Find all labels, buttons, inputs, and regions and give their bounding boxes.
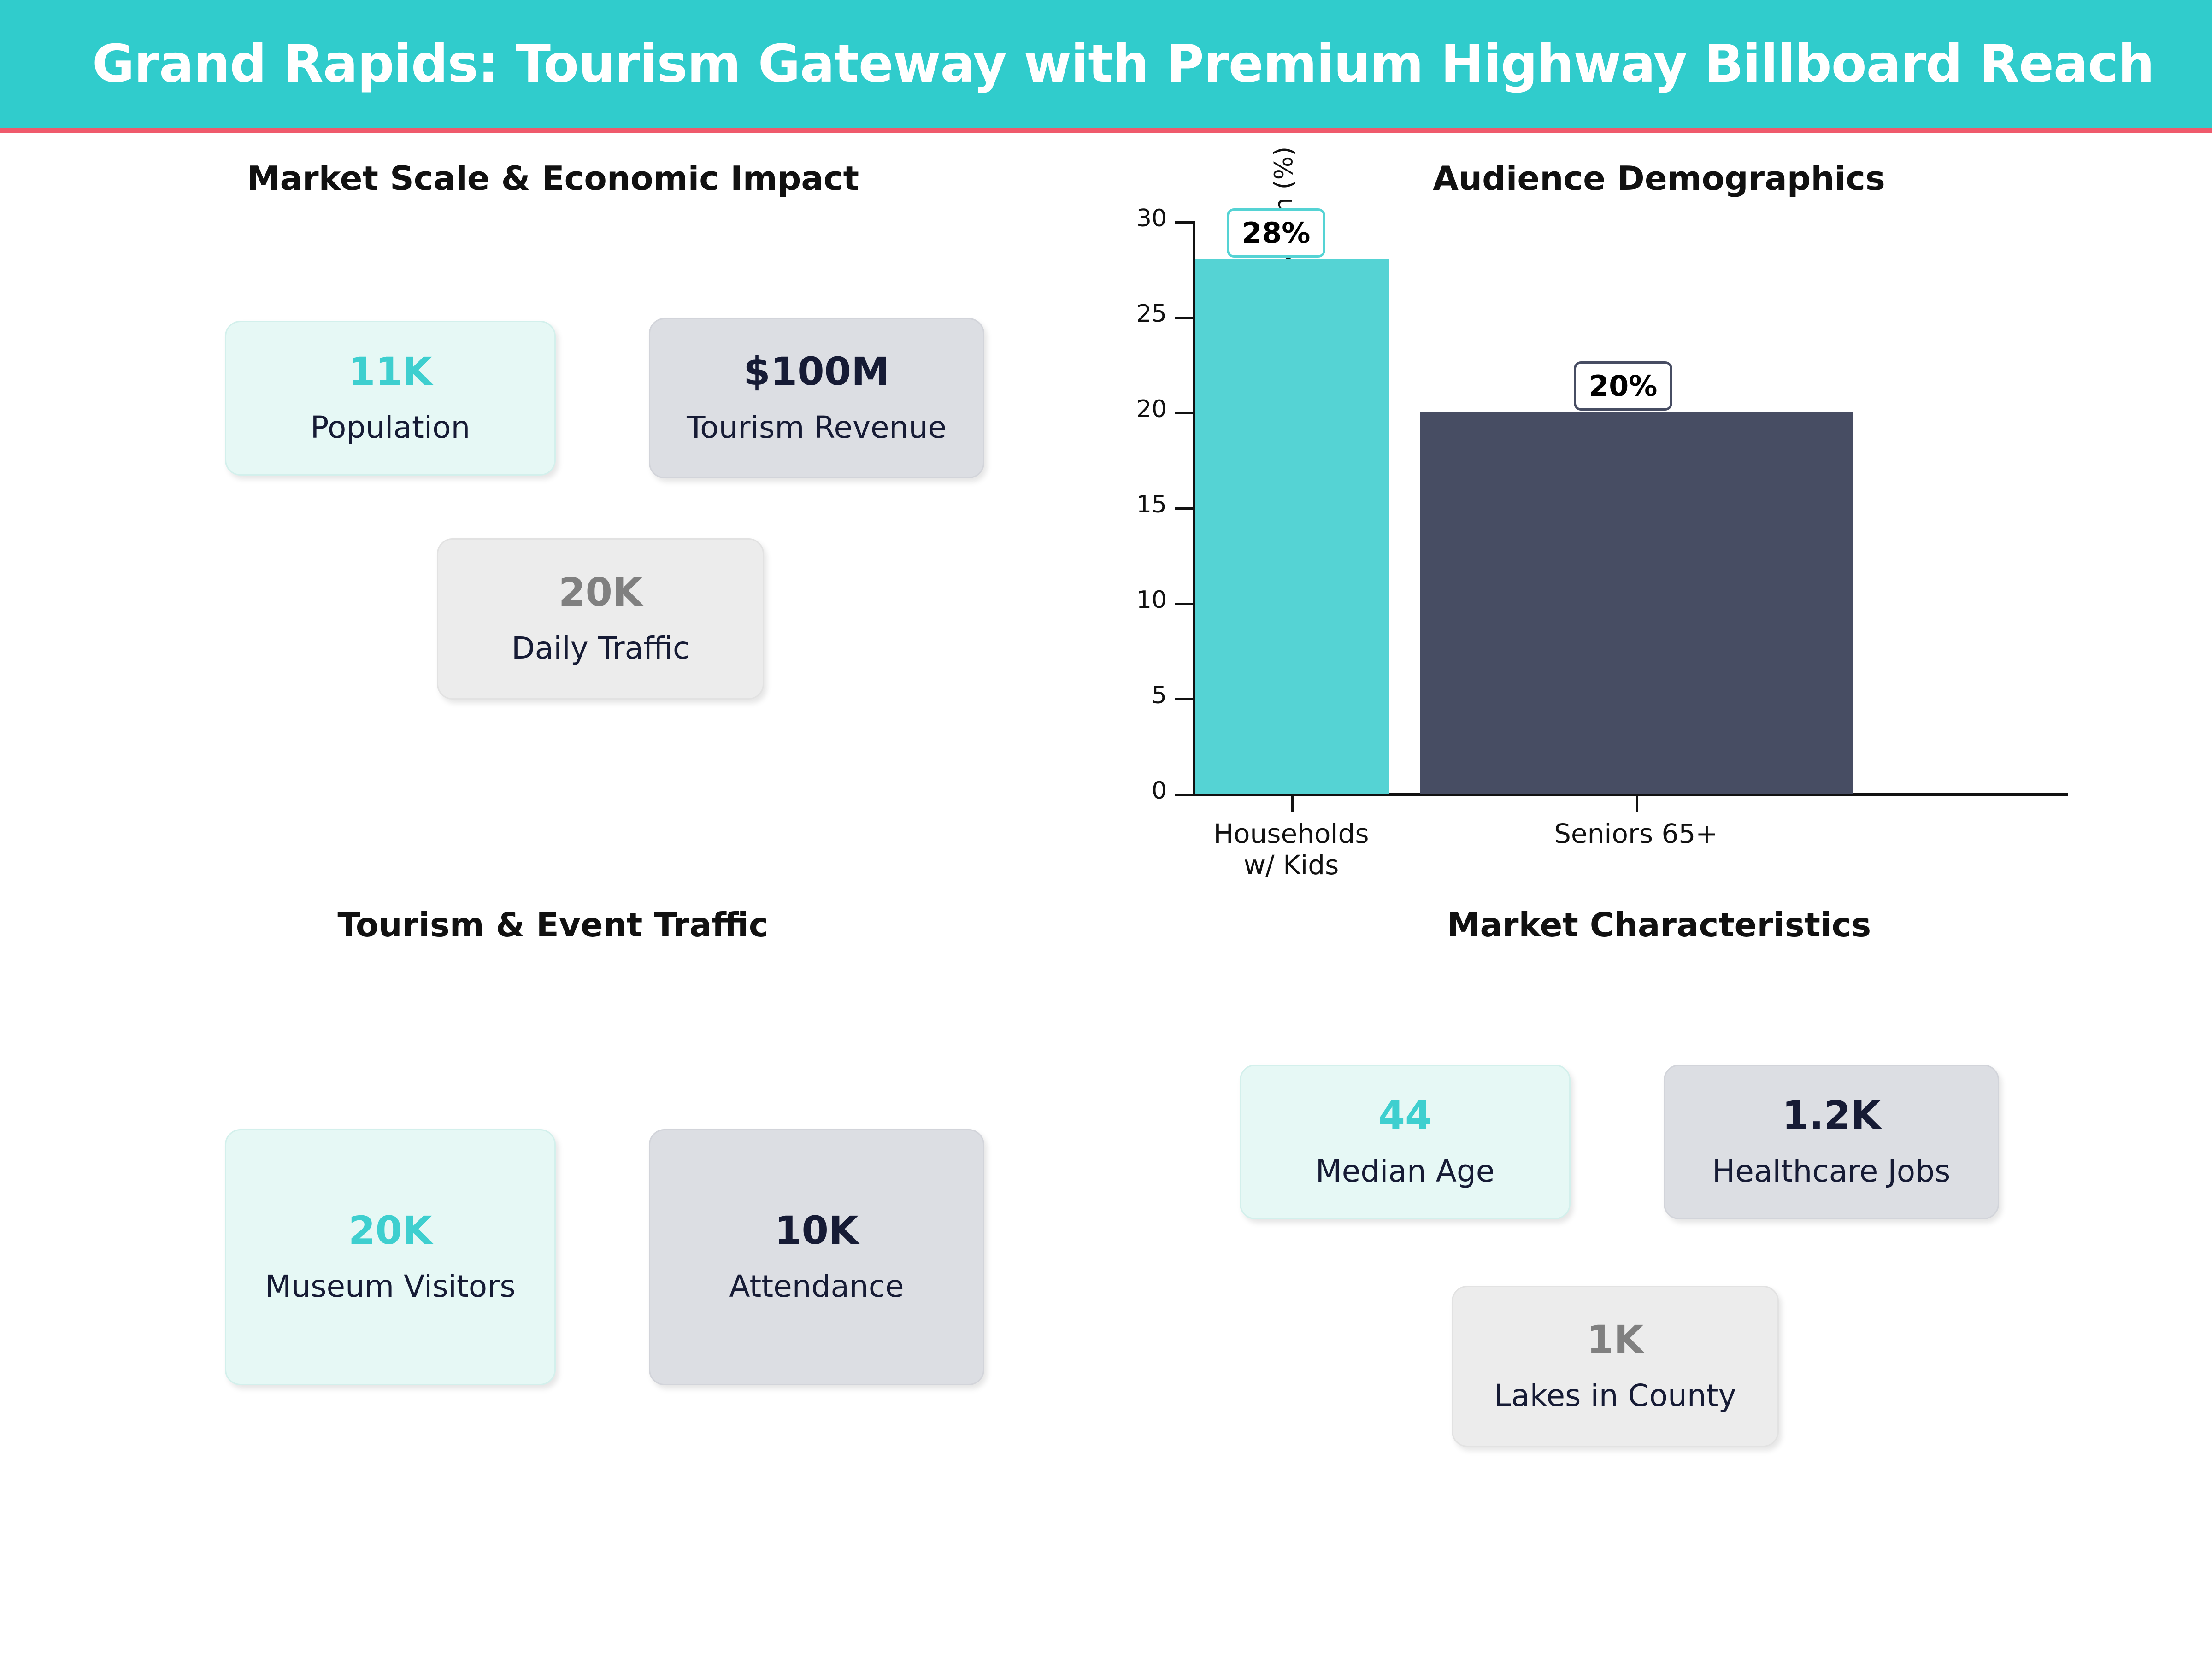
page-title: Grand Rapids: Tourism Gateway with Premi… — [92, 0, 2154, 128]
kpi-card-daily-traffic[interactable]: 20K Daily Traffic — [437, 538, 764, 700]
y-tick-0 — [1175, 794, 1193, 796]
x-tick-label-line1: Seniors 65+ — [1498, 818, 1774, 849]
x-tick-label-line1: Households — [1153, 818, 1430, 849]
y-tick-10 — [1175, 603, 1193, 605]
audience-demographics-chart: 30 25 20 15 10 5 0 Population (%) 28% 20… — [1106, 198, 2212, 889]
kpi-card-healthcare-jobs[interactable]: 1.2K Healthcare Jobs — [1664, 1065, 1999, 1219]
y-tick-30 — [1175, 221, 1193, 224]
kpi-card-museum-visitors[interactable]: 20K Museum Visitors — [225, 1129, 556, 1385]
y-tick-25 — [1175, 317, 1193, 319]
y-tick-20 — [1175, 412, 1193, 414]
x-tick-label-seniors: Seniors 65+ — [1498, 818, 1774, 849]
kpi-card-attendance[interactable]: 10K Attendance — [649, 1129, 984, 1385]
bar-data-label-seniors: 20% — [1574, 361, 1672, 411]
kpi-card-median-age[interactable]: 44 Median Age — [1240, 1065, 1571, 1219]
kpi-label: Daily Traffic — [512, 632, 689, 665]
x-tick-seniors — [1636, 796, 1638, 812]
section-title-market-scale: Market Scale & Economic Impact — [0, 159, 1106, 198]
y-tick-label-5: 5 — [1106, 682, 1167, 709]
y-tick-label-25: 25 — [1106, 300, 1167, 328]
kpi-card-lakes-in-county[interactable]: 1K Lakes in County — [1452, 1286, 1779, 1447]
kpi-value: 1.2K — [1782, 1096, 1881, 1135]
kpi-value: 10K — [775, 1211, 859, 1250]
kpi-label: Population — [311, 411, 471, 445]
kpi-label: Tourism Revenue — [687, 411, 947, 445]
bar-households-w-kids[interactable] — [1195, 259, 1389, 794]
header-accent-bar — [0, 128, 2212, 133]
kpi-label: Museum Visitors — [265, 1270, 515, 1304]
bar-seniors-65-plus[interactable] — [1420, 412, 1853, 794]
kpi-label: Healthcare Jobs — [1712, 1155, 1951, 1188]
y-tick-label-10: 10 — [1106, 586, 1167, 614]
kpi-value: 11K — [348, 352, 432, 391]
section-title-market-characteristics: Market Characteristics — [1106, 906, 2212, 944]
y-tick-label-0: 0 — [1106, 777, 1167, 805]
kpi-value: $100M — [743, 352, 889, 391]
kpi-value: 20K — [348, 1211, 432, 1250]
kpi-card-population[interactable]: 11K Population — [225, 321, 556, 476]
kpi-card-tourism-revenue[interactable]: $100M Tourism Revenue — [649, 318, 984, 478]
x-tick-label-households: Households w/ Kids — [1153, 818, 1430, 881]
section-title-tourism-event-traffic: Tourism & Event Traffic — [0, 906, 1106, 944]
y-tick-label-30: 30 — [1106, 205, 1167, 232]
kpi-label: Lakes in County — [1494, 1379, 1736, 1413]
kpi-value: 44 — [1378, 1096, 1432, 1135]
bar-data-label-households: 28% — [1227, 208, 1325, 258]
y-tick-15 — [1175, 507, 1193, 510]
y-tick-label-15: 15 — [1106, 491, 1167, 518]
kpi-label: Median Age — [1316, 1155, 1495, 1188]
x-tick-households — [1291, 796, 1294, 812]
x-tick-label-line2: w/ Kids — [1153, 849, 1430, 881]
kpi-label: Attendance — [729, 1270, 904, 1304]
y-tick-label-20: 20 — [1106, 395, 1167, 423]
kpi-value: 1K — [1587, 1320, 1644, 1359]
kpi-value: 20K — [559, 573, 642, 612]
y-tick-5 — [1175, 698, 1193, 700]
